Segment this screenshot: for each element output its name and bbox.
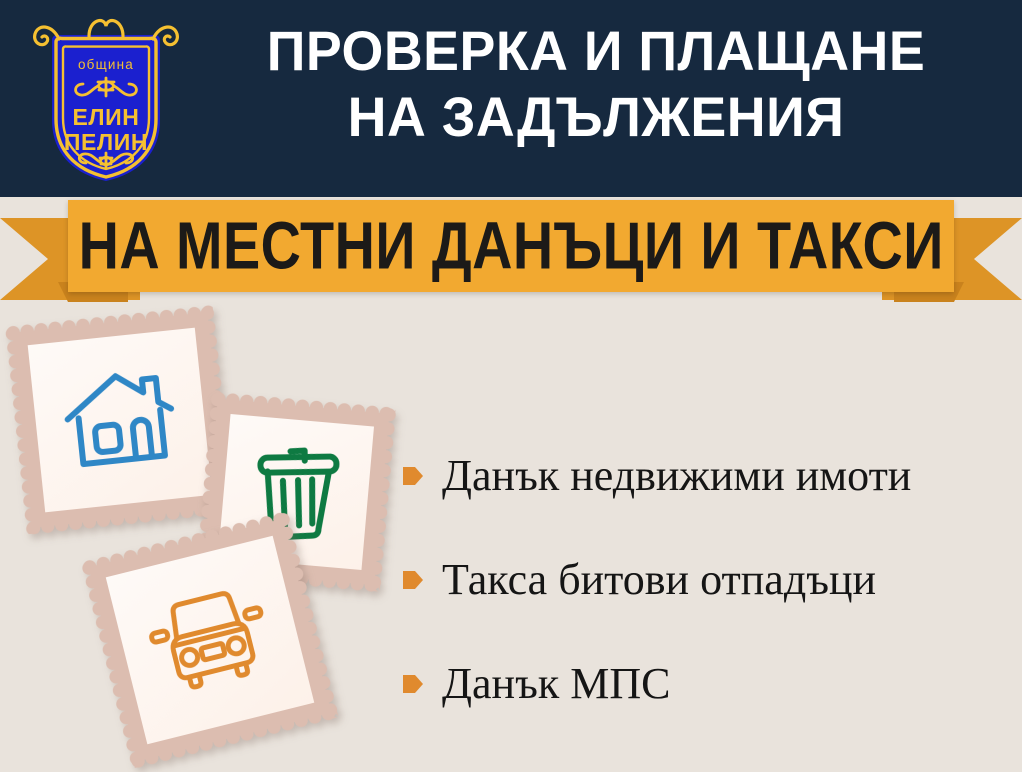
poster-canvas: община ЕЛИН ПЕЛИН ПРОВЕРКА И ПЛАЩАНЕ НА … (0, 0, 1022, 772)
list-item: Такса битови отпадъци (402, 528, 1014, 632)
stamp-paper (28, 328, 213, 513)
arrow-pentagon-bullet-icon (402, 567, 424, 593)
stamp-paper (106, 536, 315, 745)
arrow-pentagon-bullet-icon (402, 671, 424, 697)
title-line-1: ПРОВЕРКА И ПЛАЩАНЕ (206, 18, 986, 84)
arrow-pentagon-bullet-icon (402, 463, 424, 489)
title-line-2: НА ЗАДЪЛЖЕНИЯ (206, 84, 986, 150)
ribbon-text: НА МЕСТНИ ДАНЪЦИ И ТАКСИ (78, 211, 943, 280)
subtitle-ribbon: НА МЕСТНИ ДАНЪЦИ И ТАКСИ (0, 196, 1022, 306)
municipality-crest-shield-icon: община ЕЛИН ПЕЛИН (26, 8, 186, 188)
crest-name-line2: ПЕЛИН (64, 129, 148, 155)
list-item: Данък недвижими имоти (402, 424, 1014, 528)
list-item-label: Данък МПС (442, 659, 670, 709)
house-icon (57, 362, 183, 478)
list-item-label: Данък недвижими имоти (442, 451, 911, 501)
crest-name-line1: ЕЛИН (72, 104, 139, 130)
obligation-types-list: Данък недвижими имоти Такса битови отпад… (402, 424, 1014, 736)
ribbon-banner: НА МЕСТНИ ДАНЪЦИ И ТАКСИ (68, 200, 954, 292)
list-item-label: Такса битови отпадъци (442, 555, 876, 605)
crest-top-label: община (78, 57, 134, 72)
car-front-icon (140, 577, 281, 703)
list-item: Данък МПС (402, 632, 1014, 736)
stamp-card-home (12, 312, 227, 527)
stamp-card-vehicle (89, 519, 331, 761)
poster-title: ПРОВЕРКА И ПЛАЩАНЕ НА ЗАДЪЛЖЕНИЯ (190, 18, 1002, 150)
